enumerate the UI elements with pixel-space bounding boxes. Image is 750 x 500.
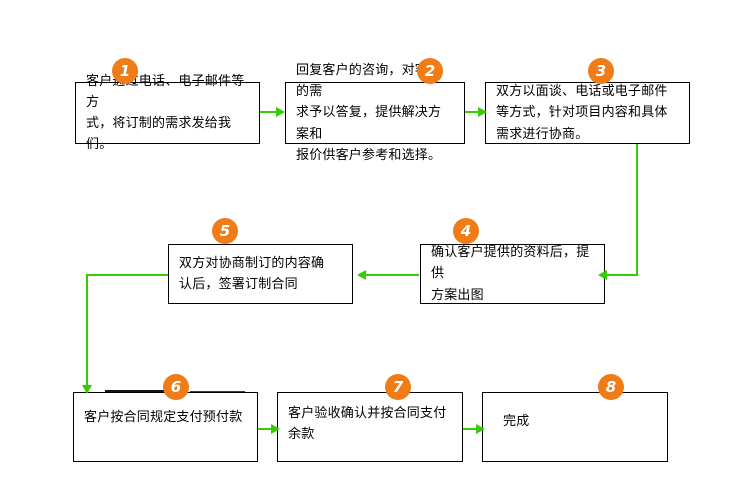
step-badge-4: 4	[453, 218, 479, 244]
process-node-7-text: 客户验收确认并按合同支付余款	[278, 393, 462, 445]
process-node-8-text: 完成	[483, 393, 667, 432]
arrowhead-2-to-3	[478, 107, 487, 117]
step-badge-8: 8	[598, 374, 624, 400]
connector-3-to-4-vertical	[636, 143, 638, 276]
arrowhead-1-to-2	[276, 107, 285, 117]
process-node-3-text: 双方以面谈、电话或电子邮件 等方式，针对项目内容和具体 需求进行协商。	[486, 81, 689, 144]
arrowhead-6-to-7	[271, 424, 280, 434]
arrowhead-3-to-4	[598, 270, 607, 280]
process-node-4[interactable]: 确认客户提供的资料后，提供 方案出图	[420, 244, 605, 304]
process-node-2[interactable]: 回复客户的咨询，对客户的需 求予以答复，提供解决方案和 报价供客户参考和选择。	[285, 82, 465, 144]
process-node-3[interactable]: 双方以面谈、电话或电子邮件 等方式，针对项目内容和具体 需求进行协商。	[485, 82, 690, 144]
process-node-4-text: 确认客户提供的资料后，提供 方案出图	[421, 242, 604, 305]
process-node-6-text: 客户按合同规定支付预付款	[74, 393, 257, 428]
arrowhead-5-to-6	[82, 385, 92, 394]
connector-3-to-4-horizontal	[607, 274, 638, 276]
step-badge-3: 3	[588, 58, 614, 84]
step-badge-7: 7	[385, 374, 411, 400]
process-node-1[interactable]: 客户通过电话、电子邮件等方 式，将订制的需求发给我们。	[75, 82, 260, 144]
process-node-7[interactable]: 客户验收确认并按合同支付余款	[277, 392, 463, 462]
flowchart-canvas: 客户通过电话、电子邮件等方 式，将订制的需求发给我们。 1 回复客户的咨询，对客…	[0, 0, 750, 500]
connector-5-to-6-vertical	[86, 274, 88, 387]
arrowhead-4-to-5	[357, 270, 366, 280]
process-node-6[interactable]: 客户按合同规定支付预付款	[73, 392, 258, 462]
connector-4-to-5	[366, 274, 419, 276]
process-node-5[interactable]: 双方对协商制订的内容确 认后，签署订制合同	[168, 244, 353, 304]
process-node-5-text: 双方对协商制订的内容确 认后，签署订制合同	[169, 253, 352, 295]
step-badge-5: 5	[212, 218, 238, 244]
step-badge-2: 2	[417, 58, 443, 84]
process-node-1-text: 客户通过电话、电子邮件等方 式，将订制的需求发给我们。	[76, 71, 259, 155]
connector-5-to-6-horizontal	[86, 274, 170, 276]
step-badge-1: 1	[112, 58, 138, 84]
step-badge-6: 6	[163, 374, 189, 400]
arrowhead-7-to-8	[476, 424, 485, 434]
process-node-8[interactable]: 完成	[482, 392, 668, 462]
